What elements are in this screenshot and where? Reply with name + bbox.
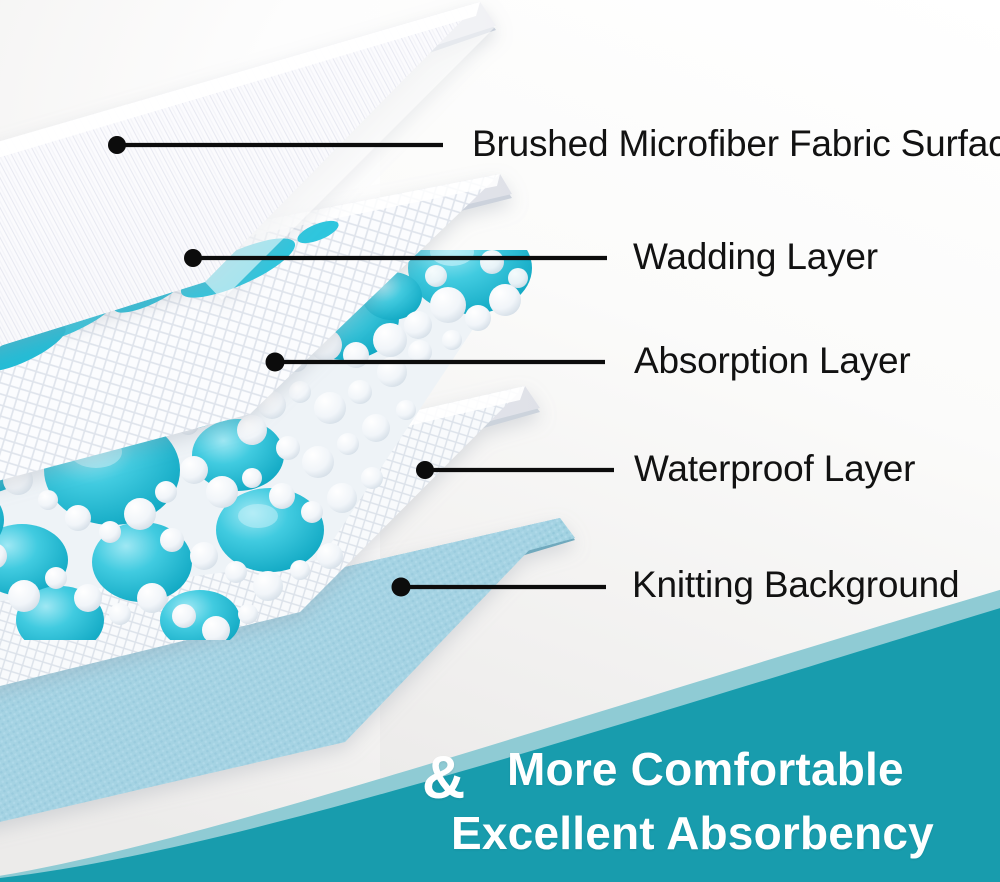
leader-dot-waterproof (416, 461, 434, 479)
leader-dot-brushed-microfiber (108, 136, 126, 154)
callout-label-absorption-layer: Absorption Layer (634, 342, 911, 379)
callout-label-brushed-microfiber-fabric-surface: Brushed Microfiber Fabric Surface (472, 125, 1000, 162)
leader-dot-absorption (266, 353, 285, 372)
banner-headline-line-2: Excellent Absorbency (451, 810, 934, 856)
callout-label-wadding-layer: Wadding Layer (633, 238, 878, 275)
infographic-canvas: Brushed Microfiber Fabric Surface Waddin… (0, 0, 1000, 882)
banner-ampersand: & (422, 748, 465, 808)
banner-headline-line-1: More Comfortable (507, 746, 904, 792)
leader-dot-wadding (184, 249, 202, 267)
callout-label-waterproof-layer: Waterproof Layer (634, 450, 915, 487)
